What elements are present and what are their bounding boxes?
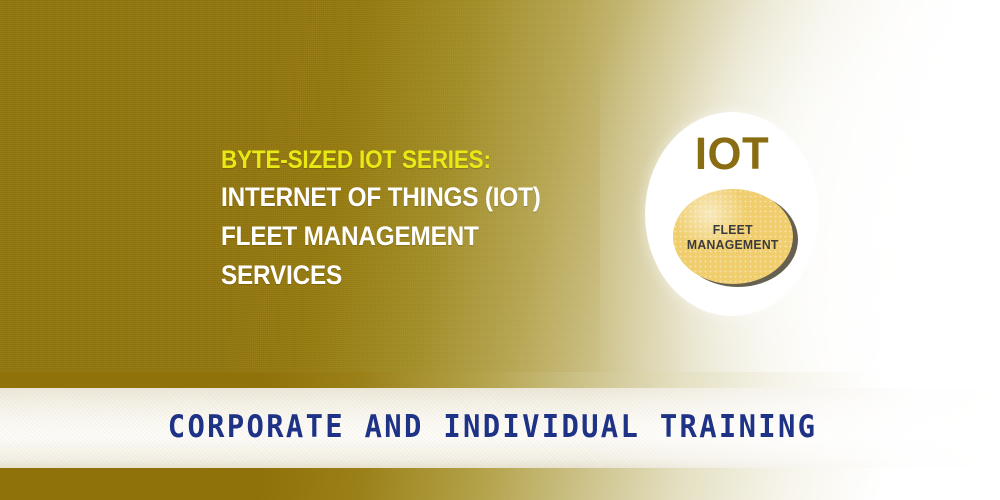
badge-iot-label: IOT <box>648 129 817 179</box>
headline-line-2: FLEET MANAGEMENT <box>221 217 599 256</box>
headline-line-1: INTERNET OF THINGS (IOT) <box>221 178 599 217</box>
badge-inner-label-line-1: FLEET <box>687 222 779 237</box>
headline-block: BYTE-SIZED IOT SERIES: INTERNET OF THING… <box>221 142 641 295</box>
promo-banner: BYTE-SIZED IOT SERIES: INTERNET OF THING… <box>0 0 1000 500</box>
badge-inner-label: FLEET MANAGEMENT <box>687 222 779 252</box>
bottom-band-bottom-rule <box>0 468 1000 500</box>
headline-line-3: SERVICES <box>221 256 599 295</box>
iot-fleet-badge: IOT FLEET MANAGEMENT <box>645 112 819 316</box>
bottom-band-top-rule <box>0 372 1000 389</box>
badge-inner-circle: FLEET MANAGEMENT <box>673 189 793 284</box>
headline-eyebrow: BYTE-SIZED IOT SERIES: <box>221 142 599 178</box>
bottom-banner-text: CORPORATE AND INDIVIDUAL TRAINING <box>28 396 958 458</box>
badge-inner-label-line-2: MANAGEMENT <box>687 237 779 252</box>
